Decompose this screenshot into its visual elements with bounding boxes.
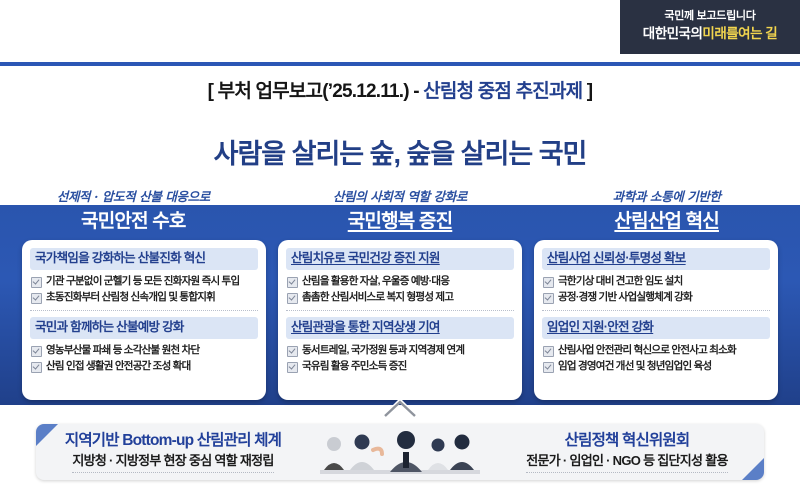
list-item-label: 임업 경영여건 개선 및 청년임업인 육성 xyxy=(558,359,711,374)
bottom-right-title: 산림정책 혁신위원회 xyxy=(496,431,758,451)
list-item-label: 극한기상 대비 견고한 임도 설치 xyxy=(558,274,683,289)
chevron-up-icon xyxy=(382,396,418,418)
list-item: 초동진화부터 산림청 신속개입 및 통합지휘 xyxy=(30,290,258,305)
section-bullet-list: 극한기상 대비 견고한 임도 설치 공정·경쟁 기반 사업실행체계 강화 xyxy=(542,274,770,305)
checkbox-icon xyxy=(543,293,554,304)
page-title-accent: 산림청 중점 추진과제 xyxy=(423,81,582,102)
list-item: 산림을 활용한 자살, 우울증 예방·대응 xyxy=(286,274,514,289)
section-bullet-list: 동서트레일, 국가정원 등과 지역경제 연계 국유림 활용 주민소득 증진 xyxy=(286,343,514,374)
header-divider-rule xyxy=(0,62,800,66)
list-item-label: 촘촘한 산림서비스로 복지 형평성 제고 xyxy=(302,290,453,305)
list-item-label: 초동진화부터 산림청 신속개입 및 통합지휘 xyxy=(46,290,215,305)
pillar-1-section-2: 국민과 함께하는 산불예방 강화 영농부산물 파쇄 등 소각산불 원천 차단 산… xyxy=(30,310,258,374)
corner-accent-top-left xyxy=(36,424,58,446)
list-item: 산림사업 안전관리 혁신으로 안전사고 최소화 xyxy=(542,343,770,358)
list-item-label: 기관 구분없이 군헬기 등 모든 진화자원 즉시 투입 xyxy=(46,274,239,289)
checkbox-icon xyxy=(31,293,42,304)
list-item-label: 산림을 활용한 자살, 우울증 예방·대응 xyxy=(302,274,449,289)
pillar-2-section-2: 산림관광을 통한 지역상생 기여 동서트레일, 국가정원 등과 지역경제 연계 … xyxy=(286,310,514,374)
badge-line-2-yellow-1: 미래를 xyxy=(702,26,738,41)
list-item: 촘촘한 산림서비스로 복지 형평성 제고 xyxy=(286,290,514,305)
infographic-page: 국민께 보고드립니다 대한민국의미래를여는 길 [ 부처 업무보고(’25.12… xyxy=(0,0,800,489)
section-heading: 산림치유로 국민건강 증진 지원 xyxy=(286,248,514,270)
checkbox-icon xyxy=(543,362,554,373)
section-bullet-list: 영농부산물 파쇄 등 소각산불 원천 차단 산림 인접 생활권 안전공간 조성 … xyxy=(30,343,258,374)
bottom-left-title: 지역기반 Bottom-up 산림관리 체계 xyxy=(42,431,304,451)
list-item: 공정·경쟁 기반 사업실행체계 강화 xyxy=(542,290,770,305)
list-item: 산림 인접 생활권 안전공간 조성 확대 xyxy=(30,359,258,374)
badge-line-2-white: 대한민국의 xyxy=(643,26,703,41)
pillar-title-1: 국민안전 수호 xyxy=(0,206,267,238)
badge-line-2-yellow-2: 여는 길 xyxy=(738,26,777,41)
list-item: 기관 구분없이 군헬기 등 모든 진화자원 즉시 투입 xyxy=(30,274,258,289)
pillar-card-1: 국가책임을 강화하는 산불진화 혁신 기관 구분없이 군헬기 등 모든 진화자원… xyxy=(22,240,266,400)
bottom-left-subtitle: 지방청 · 지방정부 현장 중심 역할 재정립 xyxy=(72,452,273,473)
badge-line-2: 대한민국의미래를여는 길 xyxy=(643,26,777,43)
pillar-card-row: 국가책임을 강화하는 산불진화 혁신 기관 구분없이 군헬기 등 모든 진화자원… xyxy=(0,240,800,400)
checkbox-icon xyxy=(287,293,298,304)
bottom-right-subtitle: 전문가 · 임업인 · NGO 등 집단지성 활용 xyxy=(526,452,728,473)
pillar-title-3: 산림산업 혁신 xyxy=(533,206,800,238)
section-heading: 국가책임을 강화하는 산불진화 혁신 xyxy=(30,248,258,270)
report-badge: 국민께 보고드립니다 대한민국의미래를여는 길 xyxy=(620,0,800,54)
list-item: 영농부산물 파쇄 등 소각산불 원천 차단 xyxy=(30,343,258,358)
badge-line-1: 국민께 보고드립니다 xyxy=(664,10,755,23)
list-item-label: 공정·경쟁 기반 사업실행체계 강화 xyxy=(558,290,692,305)
list-item-label: 동서트레일, 국가정원 등과 지역경제 연계 xyxy=(302,343,464,358)
checkbox-icon xyxy=(287,362,298,373)
list-item-label: 국유림 활용 주민소득 증진 xyxy=(302,359,407,374)
section-bullet-list: 기관 구분없이 군헬기 등 모든 진화자원 즉시 투입 초동진화부터 산림청 신… xyxy=(30,274,258,305)
main-slogan: 사람을 살리는 숲, 숲을 살리는 국민 xyxy=(0,132,800,171)
checkbox-icon xyxy=(543,277,554,288)
section-bullet-list: 산림을 활용한 자살, 우울증 예방·대응 촘촘한 산림서비스로 복지 형평성 … xyxy=(286,274,514,305)
section-heading: 임업인 지원·안전 강화 xyxy=(542,317,770,339)
pillar-title-2: 국민행복 증진 xyxy=(267,206,534,238)
bottom-right-block: 산림정책 혁신위원회 전문가 · 임업인 · NGO 등 집단지성 활용 xyxy=(490,431,764,473)
pillar-3-section-2: 임업인 지원·안전 강화 산림사업 안전관리 혁신으로 안전사고 최소화 임업 … xyxy=(542,310,770,374)
list-item-label: 산림 인접 생활권 안전공간 조성 확대 xyxy=(46,359,191,374)
section-bullet-list: 산림사업 안전관리 혁신으로 안전사고 최소화 임업 경영여건 개선 및 청년임… xyxy=(542,343,770,374)
pillar-card-3: 산림사업 신뢰성·투명성 확보 극한기상 대비 견고한 임도 설치 공정·경쟁 … xyxy=(534,240,778,400)
section-heading: 산림사업 신뢰성·투명성 확보 xyxy=(542,248,770,270)
checkbox-icon xyxy=(31,362,42,373)
page-title-suffix: ] xyxy=(582,81,592,102)
list-item-label: 산림사업 안전관리 혁신으로 안전사고 최소화 xyxy=(558,343,736,358)
section-heading: 산림관광을 통한 지역상생 기여 xyxy=(286,317,514,339)
pillar-3-section-1: 산림사업 신뢰성·투명성 확보 극한기상 대비 견고한 임도 설치 공정·경쟁 … xyxy=(542,248,770,305)
checkbox-icon xyxy=(31,346,42,357)
list-item: 국유림 활용 주민소득 증진 xyxy=(286,359,514,374)
pillar-card-2: 산림치유로 국민건강 증진 지원 산림을 활용한 자살, 우울증 예방·대응 촘… xyxy=(278,240,522,400)
page-title-prefix: [ 부처 업무보고(’25.12.11.) - xyxy=(208,81,424,102)
page-title: [ 부처 업무보고(’25.12.11.) - 산림청 중점 추진과제 ] xyxy=(0,76,800,103)
list-item: 극한기상 대비 견고한 임도 설치 xyxy=(542,274,770,289)
checkbox-icon xyxy=(31,277,42,288)
pillar-title-row: 국민안전 수호 국민행복 증진 산림산업 혁신 xyxy=(0,206,800,238)
bottom-left-block: 지역기반 Bottom-up 산림관리 체계 지방청 · 지방정부 현장 중심 … xyxy=(36,431,310,473)
list-item: 동서트레일, 국가정원 등과 지역경제 연계 xyxy=(286,343,514,358)
section-heading: 국민과 함께하는 산불예방 강화 xyxy=(30,317,258,339)
checkbox-icon xyxy=(543,346,554,357)
list-item: 임업 경영여건 개선 및 청년임업인 육성 xyxy=(542,359,770,374)
pillar-2-section-1: 산림치유로 국민건강 증진 지원 산림을 활용한 자살, 우울증 예방·대응 촘… xyxy=(286,248,514,305)
corner-accent-bottom-right xyxy=(742,458,764,480)
pillar-1-section-1: 국가책임을 강화하는 산불진화 혁신 기관 구분없이 군헬기 등 모든 진화자원… xyxy=(30,248,258,305)
checkbox-icon xyxy=(287,277,298,288)
checkbox-icon xyxy=(287,346,298,357)
bottom-support-bar: 지역기반 Bottom-up 산림관리 체계 지방청 · 지방정부 현장 중심 … xyxy=(36,424,764,480)
list-item-label: 영농부산물 파쇄 등 소각산불 원천 차단 xyxy=(46,343,199,358)
meeting-people-illustration xyxy=(310,424,490,480)
